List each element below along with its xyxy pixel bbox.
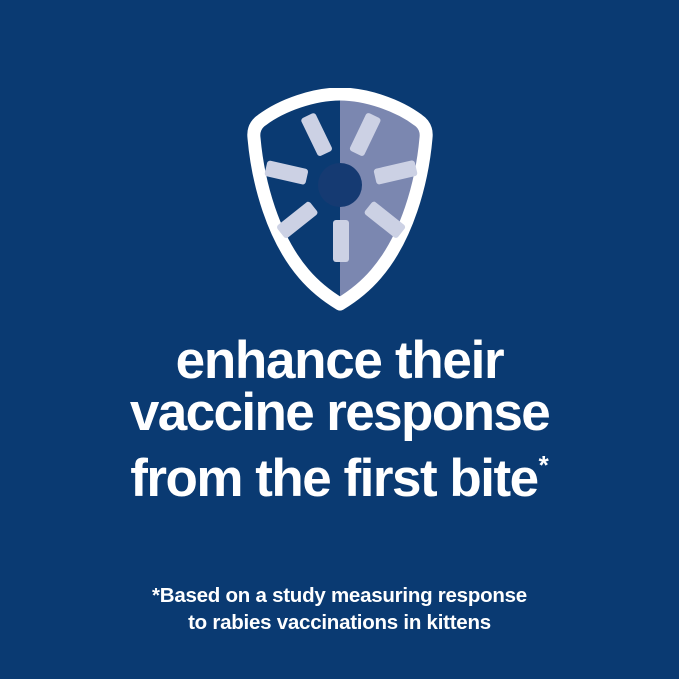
headline-line-2: vaccine response — [0, 387, 679, 439]
headline: enhance their vaccine response from the … — [0, 335, 679, 505]
shield-sunburst-logo — [0, 88, 679, 313]
footnote: *Based on a study measuring response to … — [0, 582, 679, 636]
promo-poster: enhance their vaccine response from the … — [0, 0, 679, 679]
shield-icon — [240, 88, 440, 313]
headline-line-1: enhance their — [0, 335, 679, 387]
footnote-line-2: to rabies vaccinations in kittens — [0, 609, 679, 636]
footnote-line-1: *Based on a study measuring response — [0, 582, 679, 609]
headline-line-3: from the first bite* — [0, 439, 679, 505]
footnote-marker-asterisk: * — [539, 450, 549, 480]
headline-line-3-text: from the first bite — [130, 449, 537, 508]
sunburst-center-circle — [318, 163, 362, 207]
sunburst-ray-s — [333, 220, 349, 262]
